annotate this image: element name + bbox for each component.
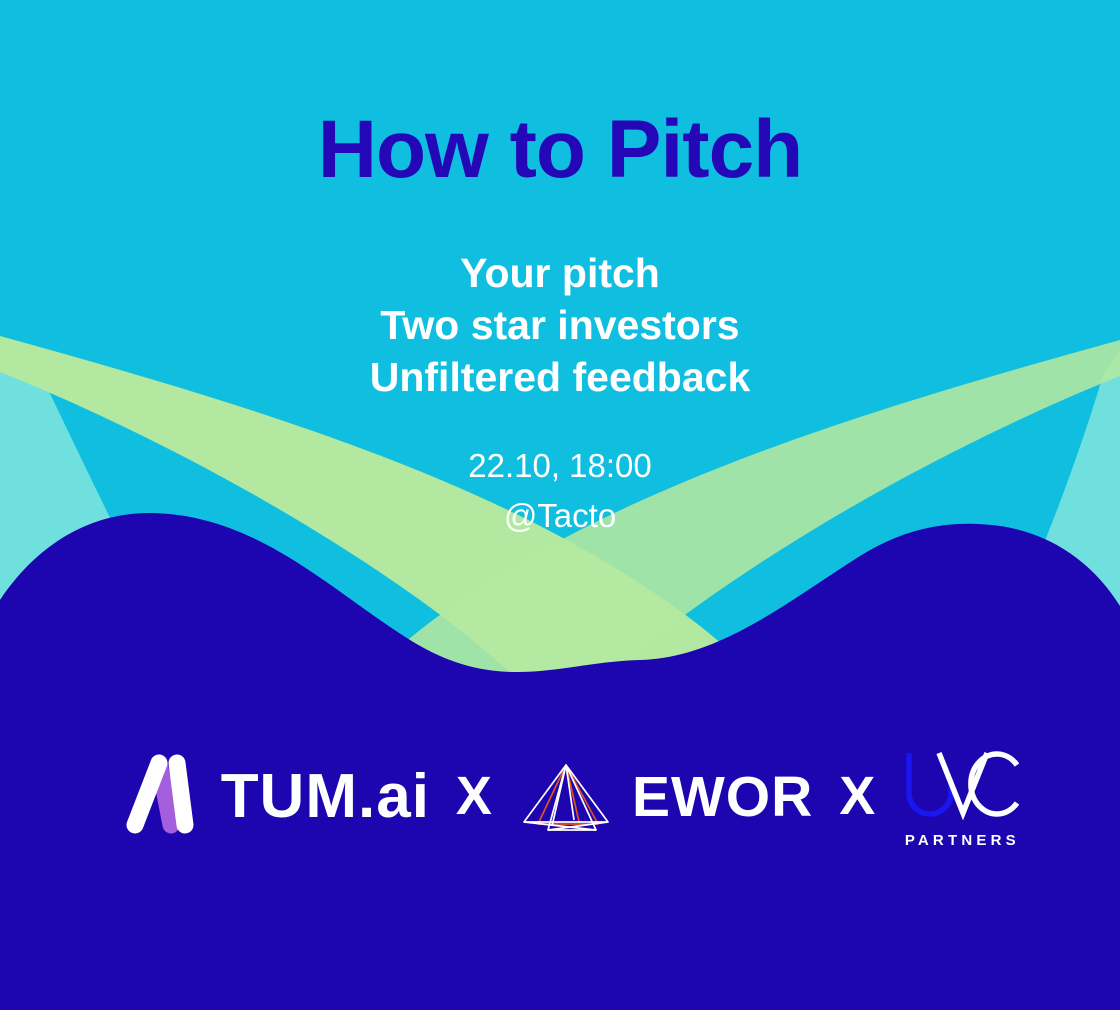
event-location: @Tacto — [0, 491, 1120, 541]
subtitle-block: Your pitch Two star investors Unfiltered… — [0, 247, 1120, 403]
logo-uvc-partners[interactable]: PARTNERS — [901, 733, 1023, 863]
poster-canvas: How to Pitch Your pitch Two star investo… — [0, 0, 1120, 1010]
partner-logo-row: TUM.ai X — [0, 730, 1120, 860]
tumai-logo-icon — [115, 747, 203, 843]
ewor-wordmark: EWOR — [632, 769, 813, 826]
logo-tumai[interactable]: TUM.ai — [115, 730, 430, 860]
uvc-logo-icon — [901, 749, 1023, 821]
uvc-tagline: PARTNERS — [905, 833, 1020, 848]
subtitle-line-1: Your pitch — [0, 247, 1120, 299]
ewor-pyramid-icon — [518, 760, 614, 838]
separator-x-1: X — [430, 769, 518, 823]
event-details-block: 22.10, 18:00 @Tacto — [0, 441, 1120, 540]
subtitle-line-3: Unfiltered feedback — [0, 351, 1120, 403]
tumai-wordmark: TUM.ai — [221, 766, 430, 828]
page-title: How to Pitch — [0, 107, 1120, 193]
subtitle-line-2: Two star investors — [0, 299, 1120, 351]
logo-ewor[interactable]: EWOR — [518, 730, 813, 860]
separator-x-2: X — [813, 769, 901, 823]
event-datetime: 22.10, 18:00 — [0, 441, 1120, 491]
